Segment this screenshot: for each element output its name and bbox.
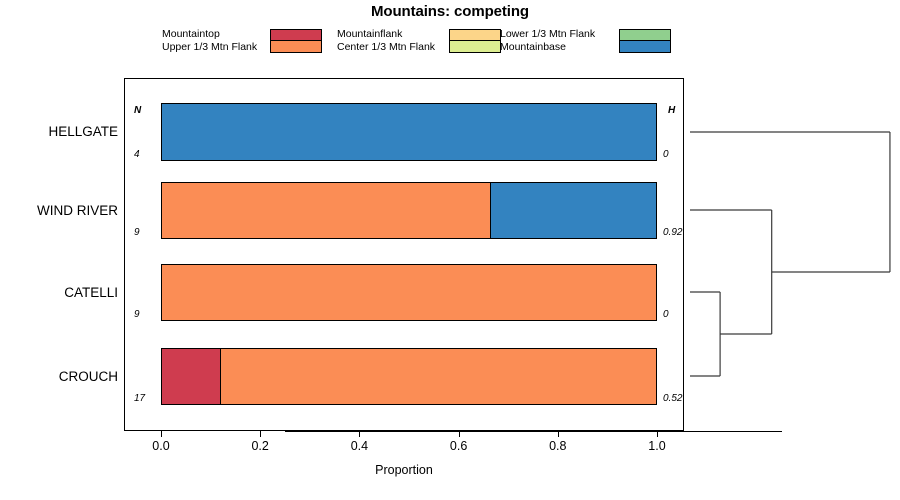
h-header: H: [668, 105, 675, 116]
x-tick: [359, 431, 360, 437]
stacked-bar[interactable]: [161, 264, 657, 321]
x-axis-title: Proportion: [124, 463, 684, 477]
legend-swatch: [271, 41, 321, 52]
n-value: 9: [134, 309, 140, 320]
chart-canvas: Mountains: competing MountaintopUpper 1/…: [0, 0, 900, 500]
stacked-bar[interactable]: [161, 348, 657, 405]
legend-swatch: [620, 30, 670, 41]
x-tick-label: 0.8: [528, 439, 588, 453]
n-value: 4: [134, 149, 140, 160]
h-value: 0: [663, 309, 669, 320]
bar-segment[interactable]: [220, 349, 656, 404]
n-value: 17: [134, 393, 145, 404]
h-value: 0: [663, 149, 669, 160]
legend-label: Lower 1/3 Mtn Flank: [500, 28, 595, 41]
stacked-bar[interactable]: [161, 103, 657, 161]
dendrogram: [690, 70, 900, 430]
x-tick: [161, 431, 162, 437]
legend-label: Upper 1/3 Mtn Flank: [162, 41, 257, 54]
h-value: 0.52: [663, 393, 682, 404]
h-value: 0.92: [663, 227, 682, 238]
legend-column-0: MountaintopUpper 1/3 Mtn Flank: [162, 28, 257, 54]
x-tick: [260, 431, 261, 437]
bar-segment[interactable]: [490, 183, 656, 238]
legend-swatch: [450, 41, 500, 52]
legend-label: Center 1/3 Mtn Flank: [337, 41, 435, 54]
bar-segment[interactable]: [162, 183, 490, 238]
legend-label: Mountainflank: [337, 28, 435, 41]
legend-swatch-group: [270, 29, 322, 53]
x-tick-label: 0.6: [429, 439, 489, 453]
x-tick-label: 1.0: [627, 439, 687, 453]
bar-segment[interactable]: [162, 265, 656, 320]
x-tick: [459, 431, 460, 437]
legend-swatch-group: [449, 29, 501, 53]
x-tick-label: 0.0: [131, 439, 191, 453]
x-tick: [657, 431, 658, 437]
bar-segment[interactable]: [162, 349, 220, 404]
n-value: 9: [134, 227, 140, 238]
legend-swatch: [620, 41, 670, 52]
legend: MountaintopUpper 1/3 Mtn FlankMountainfl…: [162, 28, 682, 54]
x-axis: 0.00.20.40.60.81.0: [124, 431, 684, 491]
page-title: Mountains: competing: [0, 3, 900, 20]
x-tick-label: 0.4: [329, 439, 389, 453]
x-tick-label: 0.2: [230, 439, 290, 453]
stacked-bar[interactable]: [161, 182, 657, 239]
legend-label: Mountainbase: [500, 41, 595, 54]
n-header: N: [134, 105, 141, 116]
x-tick: [558, 431, 559, 437]
legend-swatch: [271, 30, 321, 41]
bar-segment[interactable]: [162, 104, 656, 160]
legend-column-2: Lower 1/3 Mtn FlankMountainbase: [500, 28, 595, 54]
legend-label: Mountaintop: [162, 28, 257, 41]
legend-column-1: MountainflankCenter 1/3 Mtn Flank: [337, 28, 435, 54]
legend-swatch: [450, 30, 500, 41]
legend-swatch-group: [619, 29, 671, 53]
